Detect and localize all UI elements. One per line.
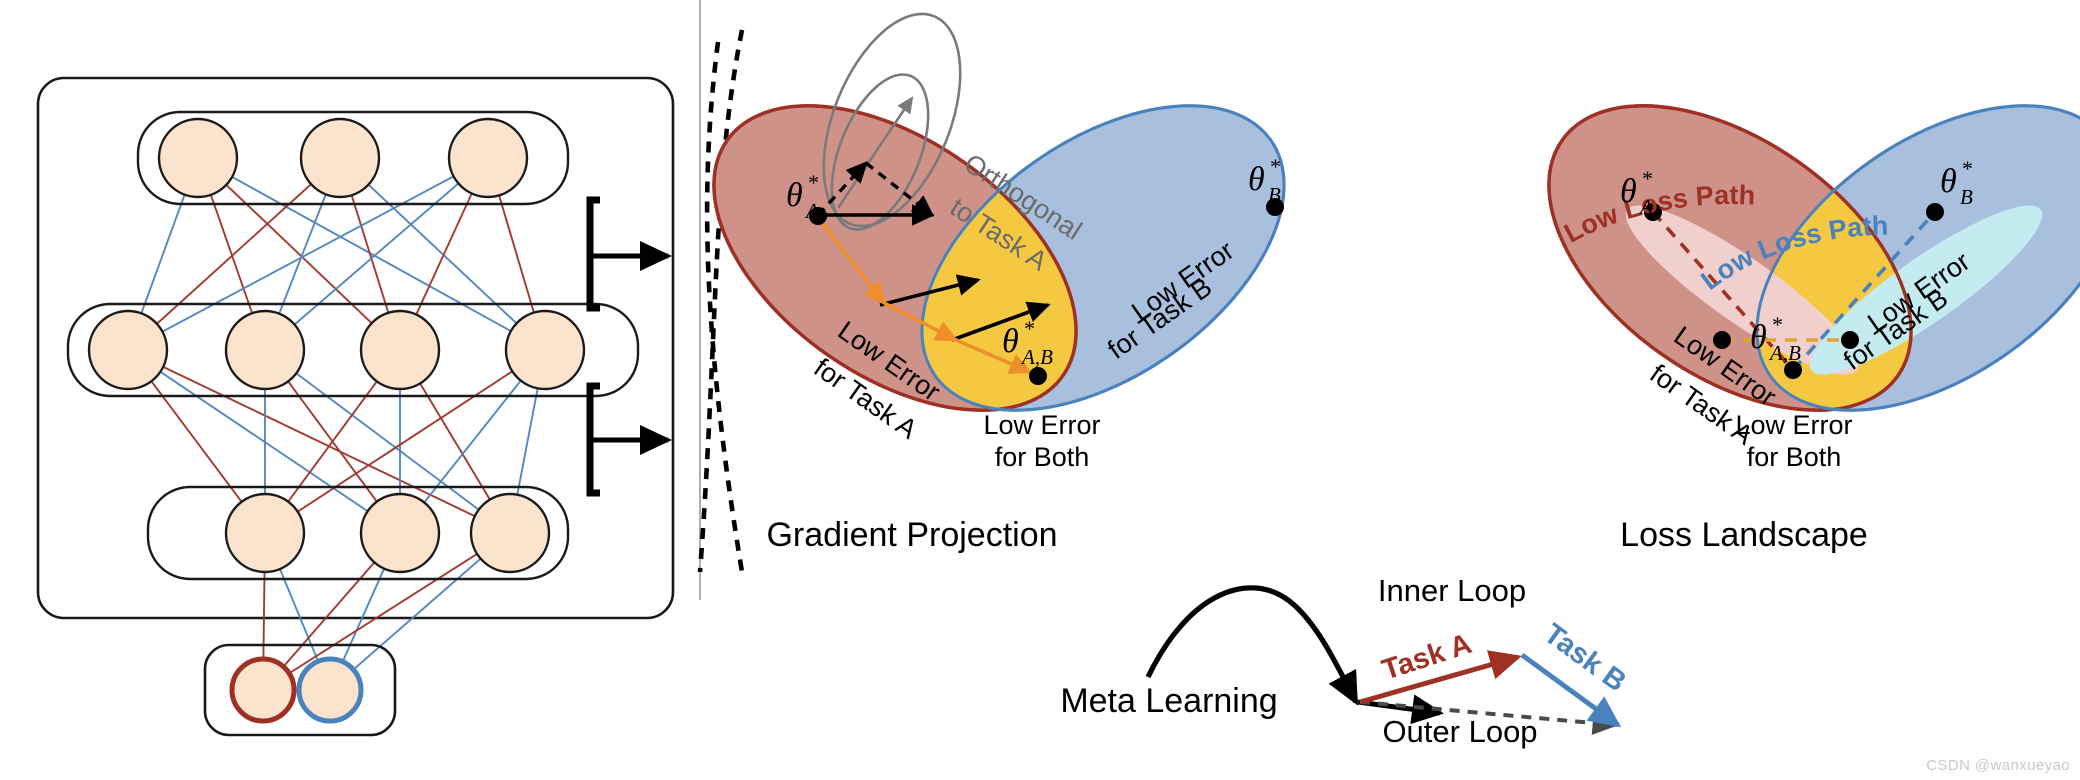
hidden-layer-2 bbox=[89, 311, 584, 389]
neuron-n3-2 bbox=[361, 494, 439, 572]
ll-theta-ab-sub: A,B bbox=[1768, 341, 1801, 365]
gp-label-low-error-both: Low Error for Both bbox=[983, 410, 1100, 472]
point-theta-ab-star bbox=[1029, 367, 1047, 385]
gp-theta-b-sup: * bbox=[1270, 154, 1281, 179]
neuron-n3-1 bbox=[226, 494, 304, 572]
label-outer-loop: Outer Loop bbox=[1382, 714, 1537, 750]
neuron-out-task-a bbox=[232, 659, 294, 721]
diagram-canvas: Low Error for Task A Low Error for Task … bbox=[0, 0, 2080, 780]
ll-theta-a-main: θ bbox=[1620, 173, 1637, 210]
neuron-n1-3 bbox=[449, 119, 527, 197]
ll-low-error-both-line1: Low Error bbox=[1735, 410, 1852, 440]
network-edges bbox=[128, 158, 545, 690]
dashed-lens bbox=[700, 30, 742, 572]
ll-theta-a-sup: * bbox=[1642, 166, 1653, 191]
neuron-out-task-b bbox=[299, 659, 361, 721]
neural-network bbox=[38, 0, 742, 735]
gp-low-error-both-line2: for Both bbox=[995, 442, 1090, 472]
gp-theta-a-sup: * bbox=[808, 170, 819, 195]
gp-theta-b-sub: B bbox=[1268, 183, 1281, 207]
panel-loss-landscape bbox=[1494, 44, 2080, 472]
neuron-n1-2 bbox=[301, 119, 379, 197]
ll-theta-ab-sup: * bbox=[1772, 312, 1783, 337]
label-inner-loop: Inner Loop bbox=[1378, 573, 1526, 609]
ll-theta-ab-main: θ bbox=[1750, 319, 1767, 356]
neuron-n3-3 bbox=[471, 494, 549, 572]
neuron-n2-4 bbox=[506, 311, 584, 389]
neuron-n1-1 bbox=[159, 119, 237, 197]
ll-point-theta-b-star bbox=[1926, 203, 1944, 221]
neuron-n2-1 bbox=[89, 311, 167, 389]
neuron-n2-2 bbox=[226, 311, 304, 389]
caption-loss-landscape: Loss Landscape bbox=[1620, 516, 1868, 555]
gp-theta-a-sub: A bbox=[804, 199, 819, 223]
caption-meta-learning: Meta Learning bbox=[1060, 682, 1277, 721]
ll-theta-b-sup: * bbox=[1962, 156, 1973, 181]
gp-low-error-both-line1: Low Error bbox=[983, 410, 1100, 440]
meta-task-a-label: Task A bbox=[1378, 628, 1475, 687]
ll-label-low-error-both: Low Error for Both bbox=[1735, 410, 1852, 472]
neuron-n2-3 bbox=[361, 311, 439, 389]
meta-task-b-label: Task B bbox=[1538, 618, 1632, 699]
gp-theta-b-main: θ bbox=[1248, 161, 1265, 198]
watermark: CSDN @wanxueyao bbox=[1926, 757, 2070, 774]
gp-theta-ab-main: θ bbox=[1002, 323, 1019, 360]
figure-root: Low Error for Task A Low Error for Task … bbox=[0, 0, 2080, 780]
ll-low-error-both-line2: for Both bbox=[1747, 442, 1842, 472]
ll-theta-a-sub: A bbox=[1638, 195, 1653, 219]
caption-gradient-projection: Gradient Projection bbox=[766, 516, 1057, 555]
gp-theta-ab-sup: * bbox=[1024, 316, 1035, 341]
hidden-layer-3 bbox=[226, 494, 549, 572]
ll-theta-b-main: θ bbox=[1940, 163, 1957, 200]
gp-theta-ab-sub: A,B bbox=[1020, 345, 1053, 369]
gp-theta-a-main: θ bbox=[786, 177, 803, 214]
ll-theta-b-sub: B bbox=[1960, 185, 1973, 209]
hidden-layer-1 bbox=[159, 119, 527, 197]
